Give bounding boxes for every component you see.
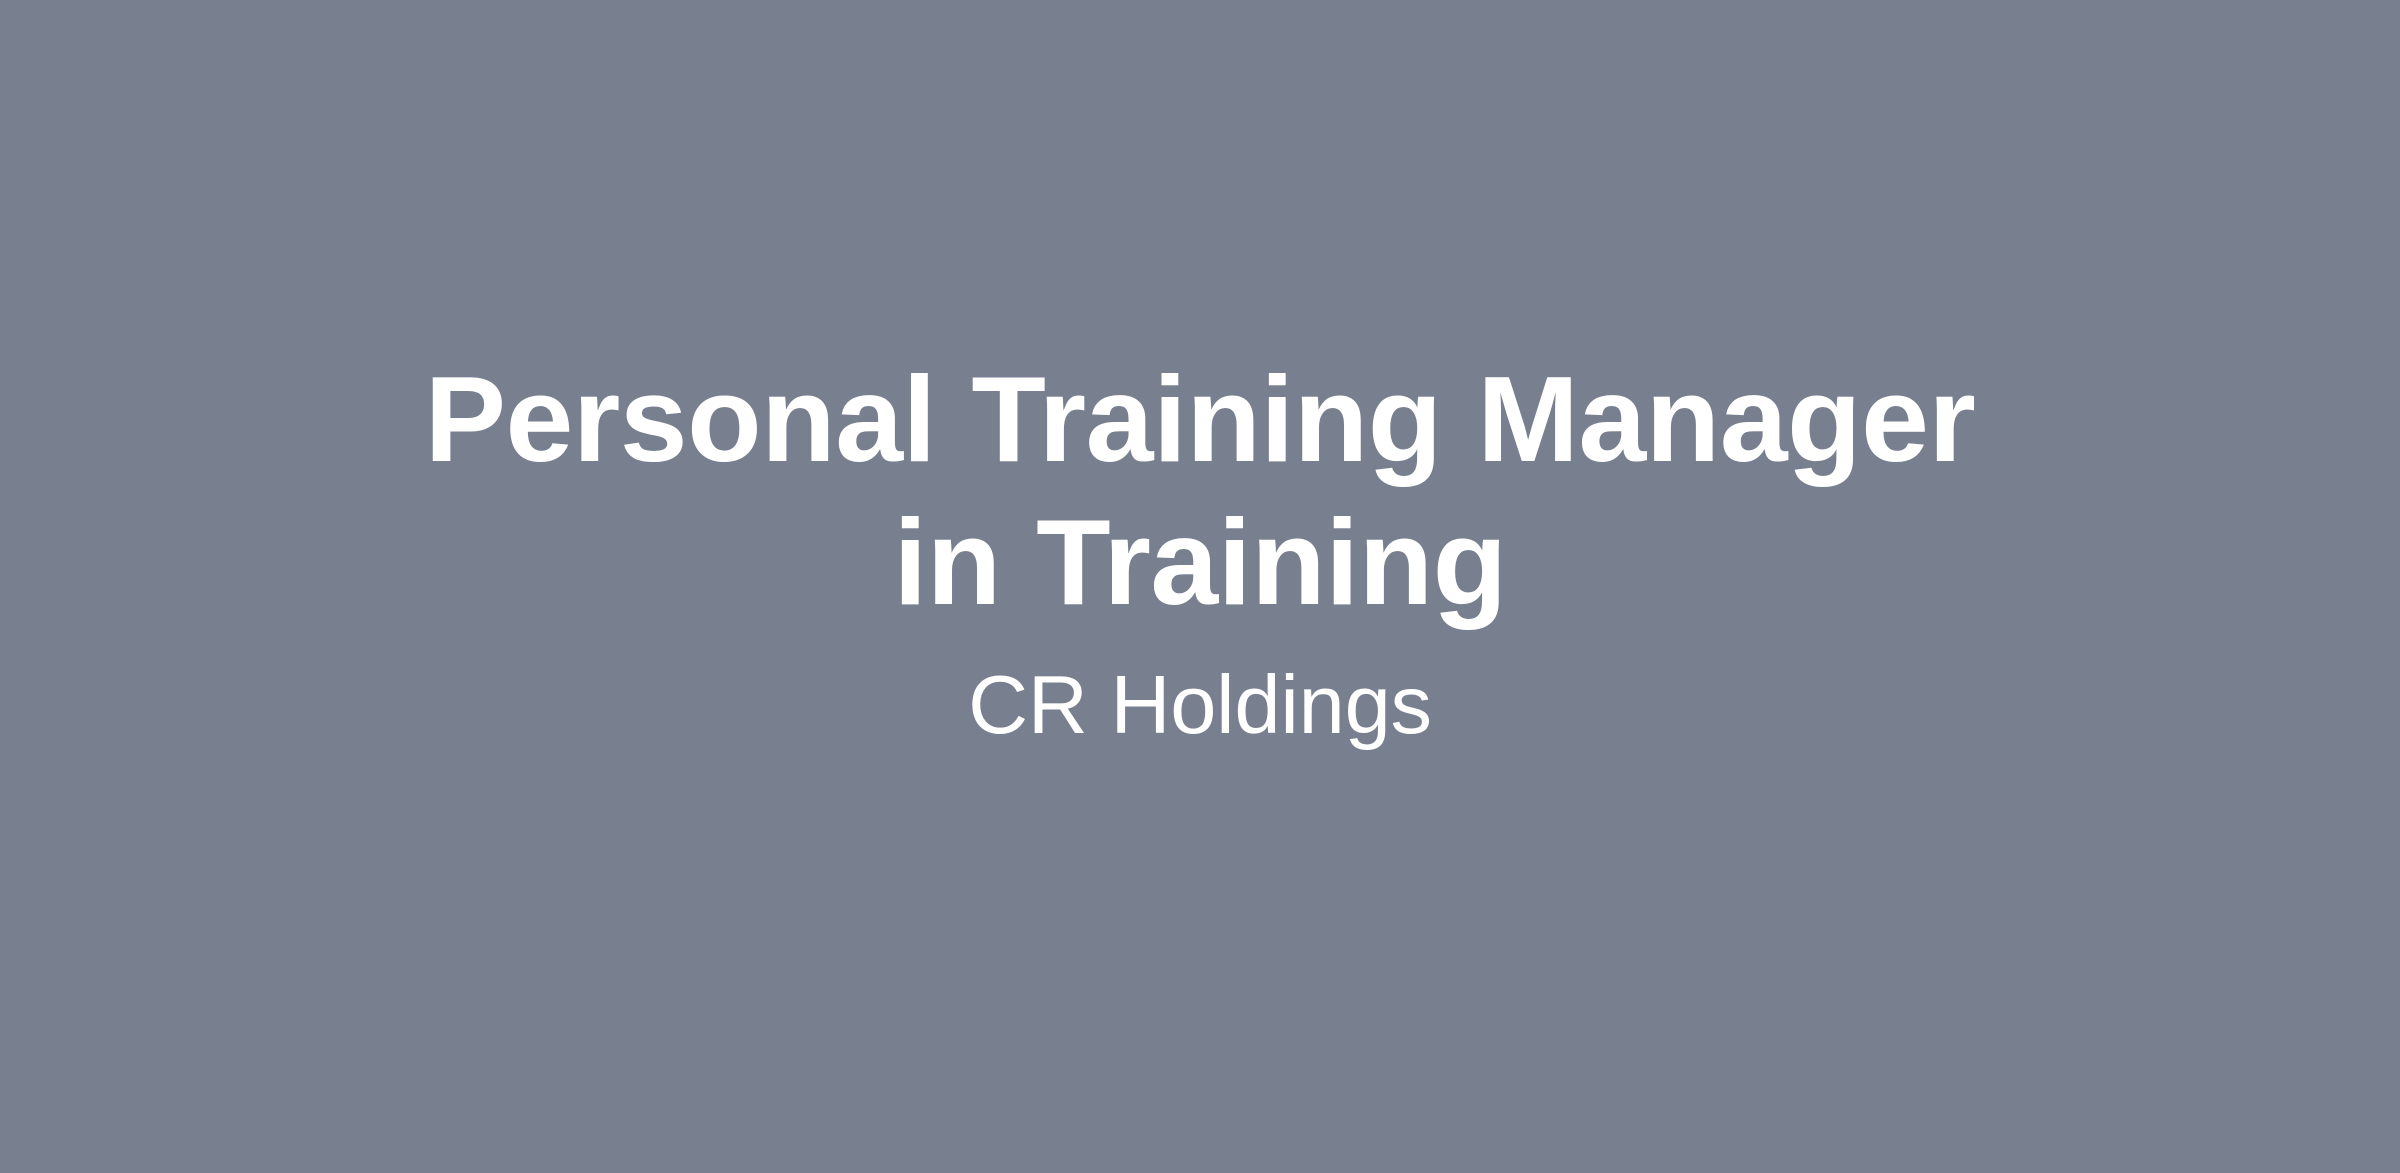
page-title: Personal Training Manager in Training [400,348,2000,633]
page-subtitle: CR Holdings [968,655,1432,755]
title-block: Personal Training Manager in Training CR… [400,348,2000,755]
title-card: Personal Training Manager in Training CR… [0,0,2400,1173]
